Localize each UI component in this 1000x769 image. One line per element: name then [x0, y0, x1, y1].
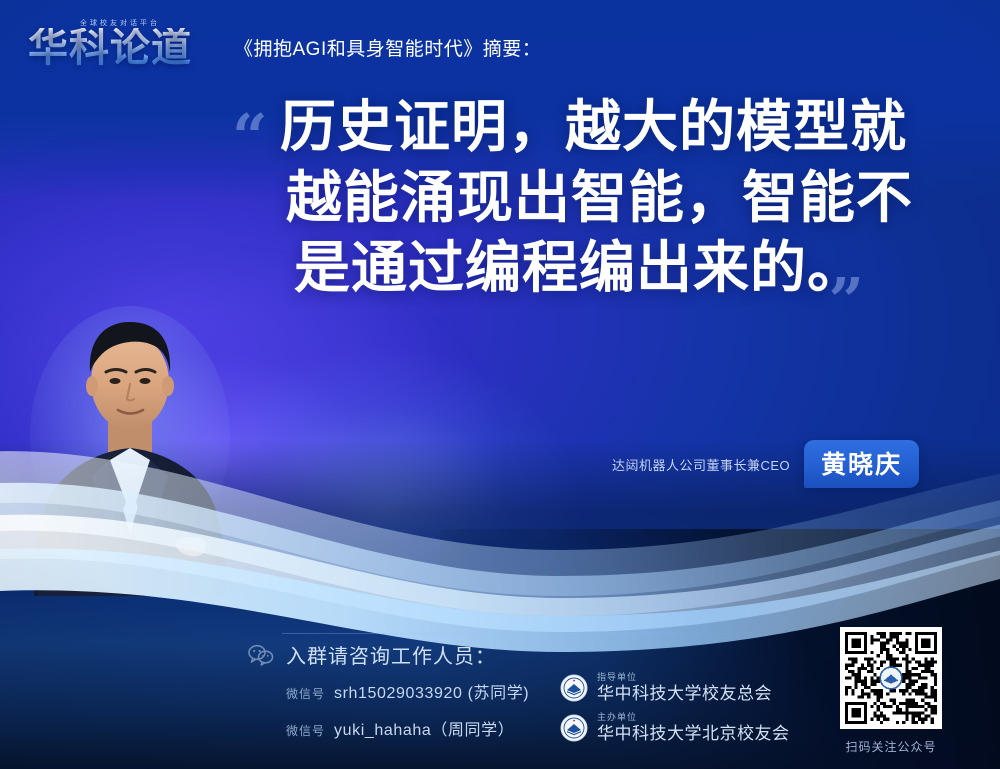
- organization-list: 指导单位 华中科技大学校友总会 主办单位 华中科技大学北京校友会: [560, 668, 790, 748]
- speaker-role: 达闼机器人公司董事长兼CEO: [612, 455, 790, 474]
- organization-name: 华中科技大学北京校友会: [597, 725, 790, 743]
- organization-item: 主办单位 华中科技大学北京校友会: [560, 708, 790, 748]
- quote-line-1: 历史证明，越大的模型就: [280, 92, 952, 163]
- organization-kind: 主办单位: [597, 713, 790, 722]
- organization-kind: 指导单位: [597, 673, 772, 682]
- organization-text: 主办单位 华中科技大学北京校友会: [597, 713, 790, 742]
- quote-line-2: 越能涌现出智能，智能不: [286, 163, 952, 234]
- contact-label: 微信号: [286, 685, 325, 702]
- speaker-attribution: 达闼机器人公司董事长兼CEO 黄晓庆: [612, 440, 919, 488]
- page-title: 《拥抱AGI和具身智能时代》摘要：: [234, 34, 541, 68]
- qr-caption: 扫码关注公众号: [835, 738, 947, 755]
- university-seal-icon: [560, 714, 588, 742]
- brand-tagline: 全球校友对话平台: [80, 18, 160, 28]
- quote-close-mark: ”: [828, 270, 864, 332]
- university-seal-icon: [560, 674, 588, 702]
- speaker-name-badge: 黄晓庆: [804, 440, 919, 488]
- organization-name: 华中科技大学校友总会: [597, 685, 772, 703]
- speaker-portrait: [26, 296, 234, 596]
- contact-value[interactable]: srh15029033920 (苏同学): [334, 679, 529, 703]
- qr-code[interactable]: [840, 627, 942, 729]
- qr-code-image: [845, 632, 937, 724]
- organization-text: 指导单位 华中科技大学校友总会: [597, 673, 772, 702]
- poster-header: 全球校友对话平台 华科论道 《拥抱AGI和具身智能时代》摘要：: [28, 18, 541, 68]
- brand-wordmark: 华科论道: [28, 28, 218, 68]
- poster-canvas: 全球校友对话平台 华科论道 《拥抱AGI和具身智能时代》摘要： “ 历史证明，越…: [0, 0, 1000, 769]
- quote-block: “ 历史证明，越大的模型就 越能涌现出智能，智能不 是通过编程编出来的。 ”: [232, 92, 952, 304]
- contact-value[interactable]: yuki_hahaha（周同学）: [334, 716, 514, 740]
- qr-section: 扫码关注公众号: [835, 627, 947, 755]
- wechat-icon: [248, 644, 274, 666]
- contact-label: 微信号: [286, 722, 325, 739]
- brand-logo[interactable]: 全球校友对话平台 华科论道: [28, 18, 218, 68]
- footer-heading: 入群请咨询工作人员：: [286, 640, 496, 669]
- organization-item: 指导单位 华中科技大学校友总会: [560, 668, 790, 708]
- quote-open-mark: “: [232, 106, 268, 168]
- footer-divider: [282, 633, 782, 634]
